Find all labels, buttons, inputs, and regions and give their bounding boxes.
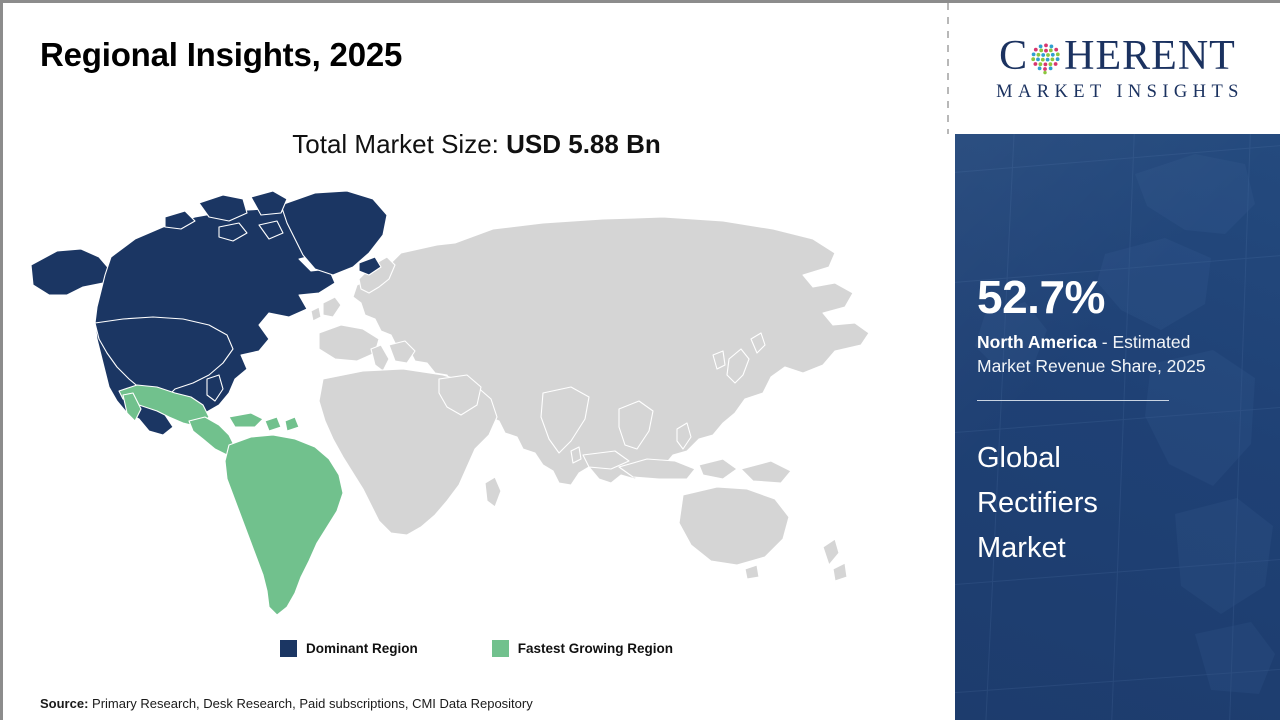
logo-letter-c: C — [999, 35, 1028, 77]
market-size-value: USD 5.88 Bn — [506, 129, 661, 159]
logo-word-herent: HERENT — [1064, 35, 1236, 77]
world-map — [23, 183, 923, 623]
logo-subtitle: MARKET INSIGHTS — [991, 82, 1244, 103]
stat-divider — [977, 400, 1169, 401]
total-market-size: Total Market Size: USD 5.88 Bn — [3, 129, 950, 160]
legend-label-dominant: Dominant Region — [306, 641, 418, 656]
legend-item-fastest-growing: Fastest Growing Region — [492, 640, 673, 657]
map-legend: Dominant Region Fastest Growing Region — [3, 640, 950, 657]
legend-item-dominant: Dominant Region — [280, 640, 418, 657]
logo-wordmark: C — [999, 35, 1236, 77]
market-name: Global Rectifiers Market — [977, 436, 1177, 571]
brand-logo: C — [955, 3, 1280, 134]
stats-content: 52.7% North America - Estimated Market R… — [955, 274, 1280, 571]
stat-caption: North America - Estimated Market Revenue… — [977, 331, 1247, 379]
legend-swatch-dominant — [280, 640, 297, 657]
legend-swatch-fastest-growing — [492, 640, 509, 657]
stat-region-name: North America — [977, 332, 1097, 352]
stat-percent: 52.7% — [977, 274, 1258, 320]
market-size-label: Total Market Size: — [292, 129, 506, 159]
source-note: Source: Primary Research, Desk Research,… — [40, 696, 533, 711]
stats-panel: 52.7% North America - Estimated Market R… — [955, 134, 1280, 720]
source-label: Source: — [40, 696, 88, 711]
source-text: Primary Research, Desk Research, Paid su… — [88, 696, 532, 711]
left-content-panel: Regional Insights, 2025 Total Market Siz… — [3, 3, 950, 720]
map-region-other — [311, 217, 869, 581]
panel-divider — [947, 3, 949, 134]
infographic-root: Regional Insights, 2025 Total Market Siz… — [0, 0, 1280, 720]
legend-label-fastest-growing: Fastest Growing Region — [518, 641, 673, 656]
dotted-globe-icon — [1029, 41, 1063, 75]
page-title: Regional Insights, 2025 — [40, 36, 402, 74]
